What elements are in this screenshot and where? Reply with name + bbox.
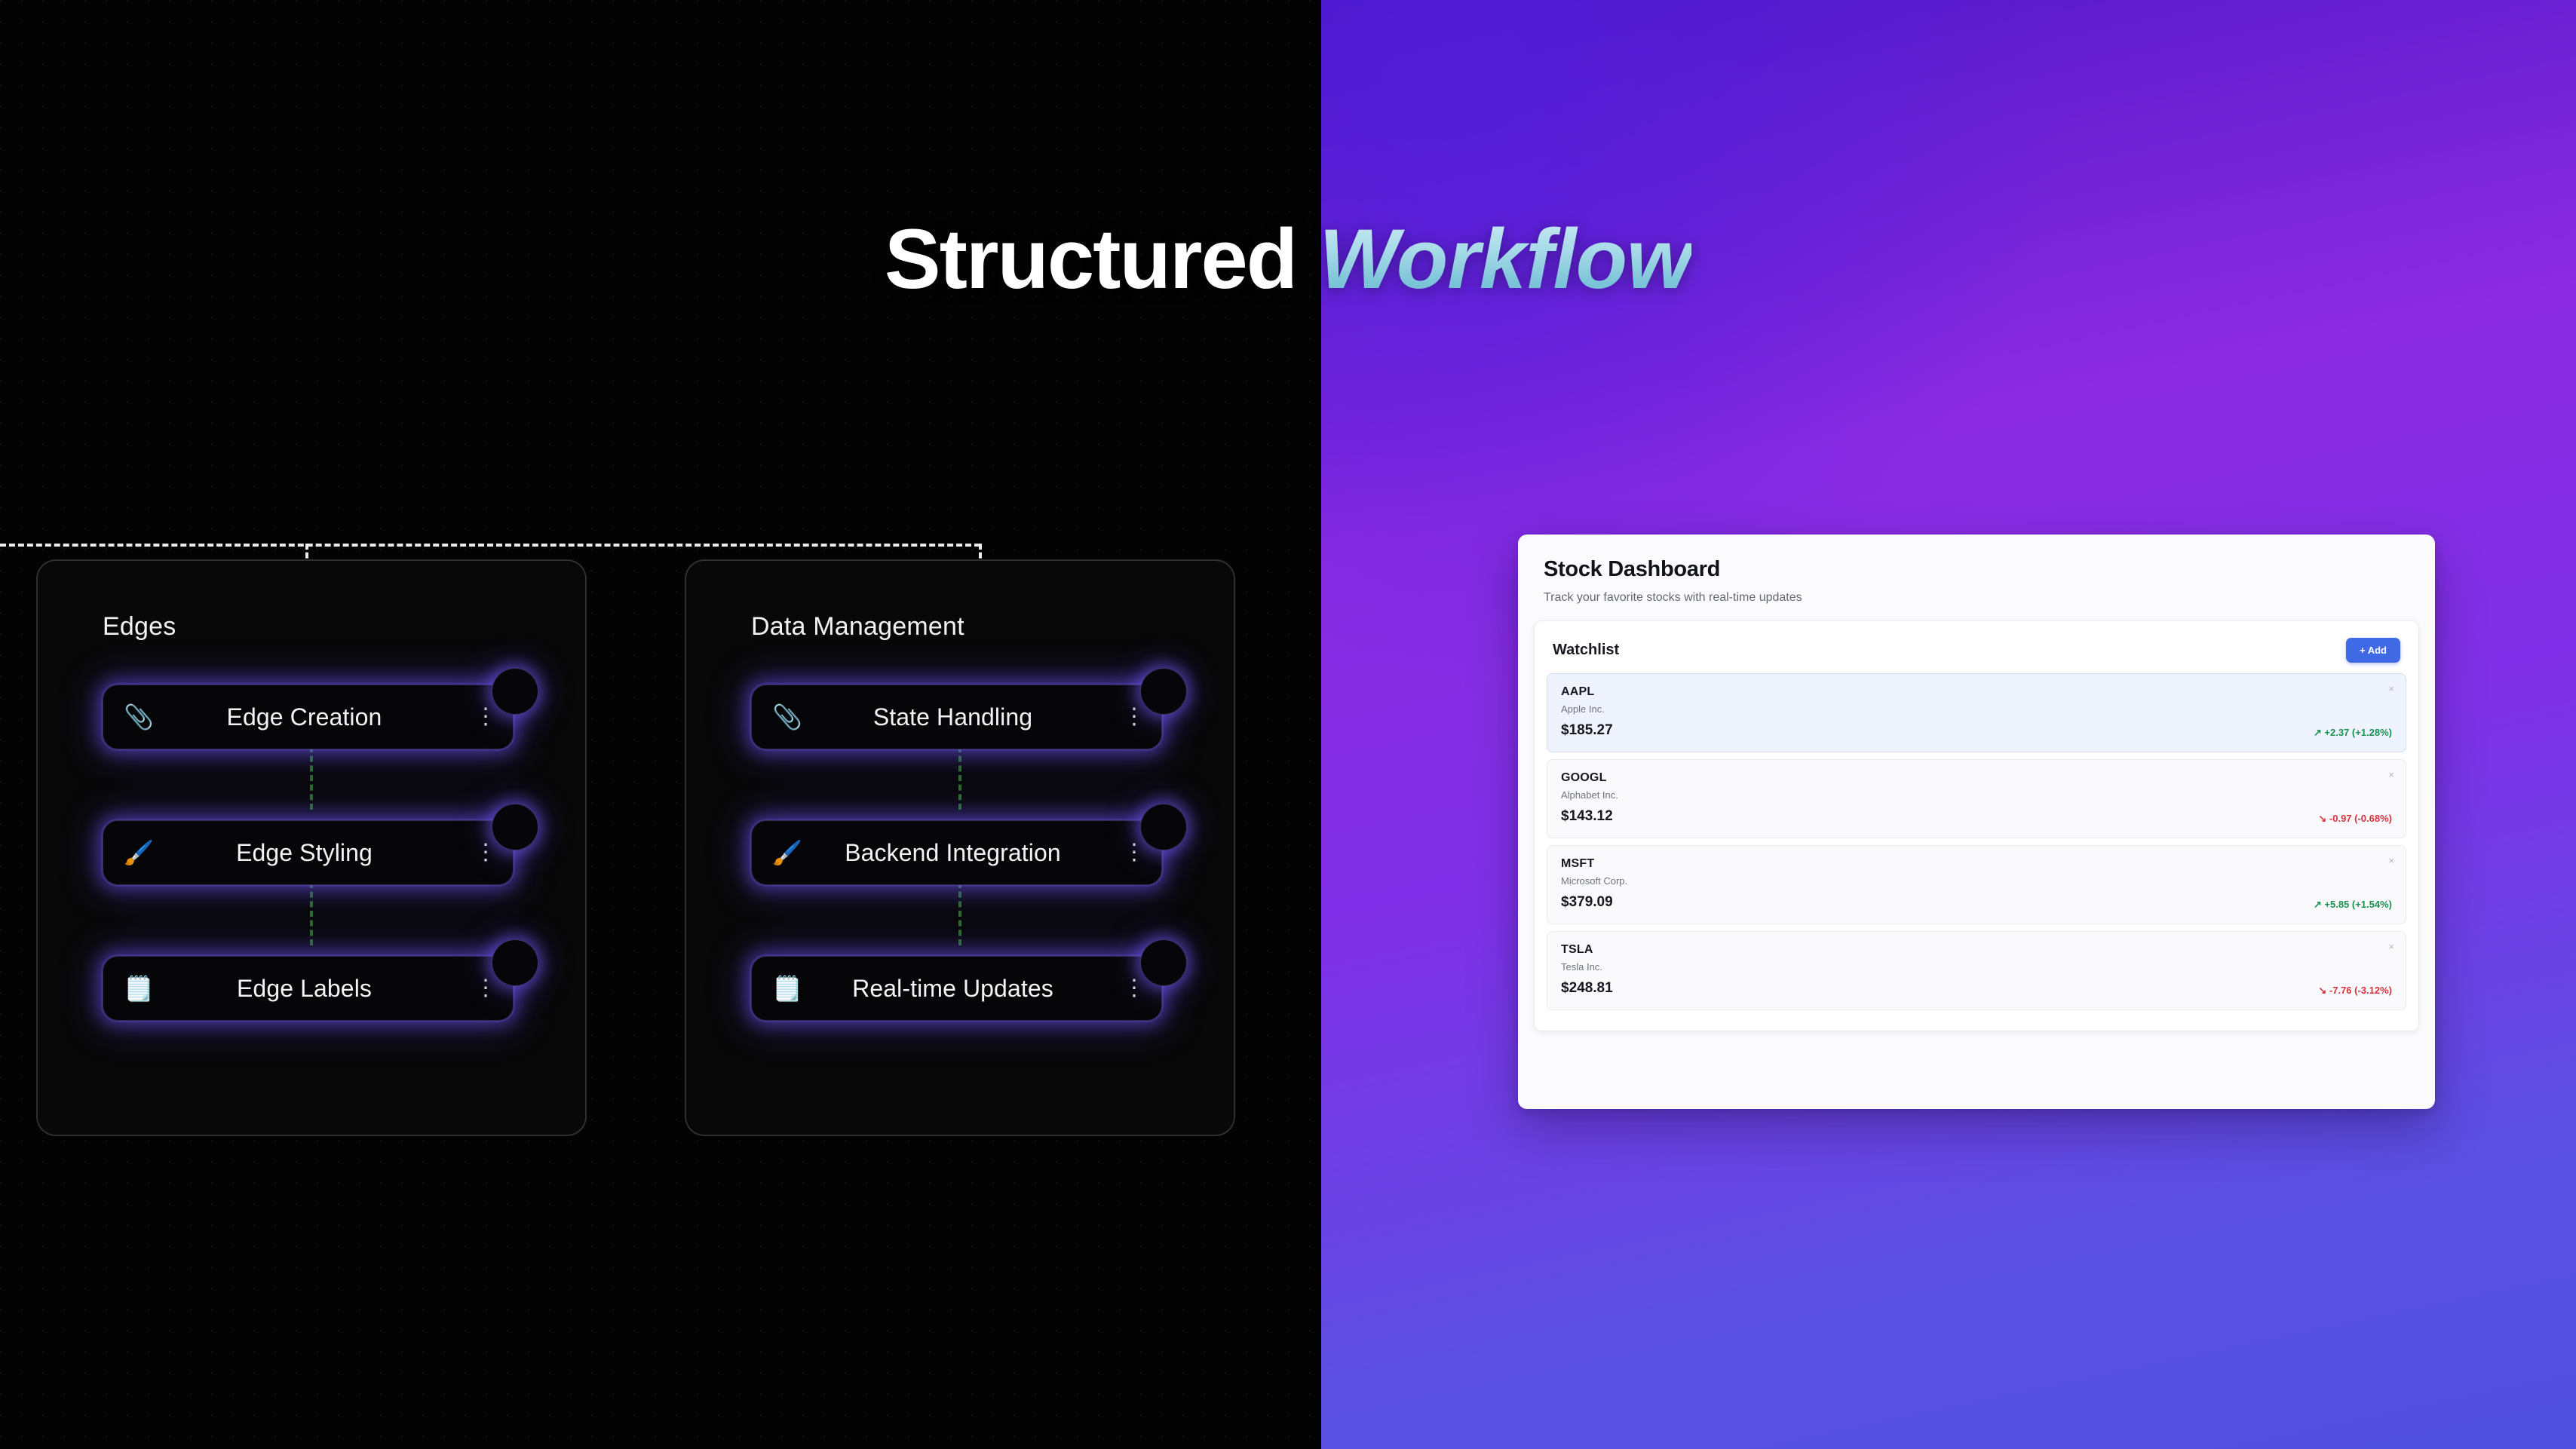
group-card-data-management[interactable]: Data Management 📎 State Handling ⋮ 🖌️ Ba… [685,559,1235,1136]
stock-row-msft[interactable]: × MSFT Microsoft Corp. $379.09 ↗ +5.85 (… [1547,845,2406,924]
paintbrush-icon: 🖌️ [121,841,156,865]
node-list-edges: 📎 Edge Creation ⋮ 🖌️ Edge Styling ⋮ 🗒️ E… [38,672,585,1080]
node-link-line [310,746,313,810]
stock-price: $143.12 [1561,808,1613,825]
node-handle[interactable] [492,939,538,986]
node-edge-styling[interactable]: 🖌️ Edge Styling ⋮ [103,820,514,885]
stock-row-bottom: $379.09 ↗ +5.85 (+1.54%) [1561,894,2392,911]
node-list-data-management: 📎 State Handling ⋮ 🖌️ Backend Integratio… [686,672,1234,1080]
group-title-edges: Edges [103,612,176,642]
node-state-handling[interactable]: 📎 State Handling ⋮ [751,685,1162,749]
kebab-menu-icon[interactable]: ⋮ [469,981,502,996]
stock-row-tsla[interactable]: × TSLA Tesla Inc. $248.81 ↘ -7.76 (-3.12… [1547,931,2406,1010]
watchlist-title: Watchlist [1553,642,1619,659]
node-link-line [958,746,961,810]
node-row[interactable]: 🖌️ Backend Integration ⋮ [686,808,1234,944]
kebab-menu-icon[interactable]: ⋮ [1118,981,1151,996]
node-row[interactable]: 📎 State Handling ⋮ [686,672,1234,808]
stock-company: Apple Inc. [1561,703,2392,715]
connector-line-horizontal [0,544,980,547]
node-realtime-updates[interactable]: 🗒️ Real-time Updates ⋮ [751,956,1162,1021]
stock-price: $185.27 [1561,722,1613,739]
node-label: Edge Styling [140,839,469,867]
stock-row-googl[interactable]: × GOOGL Alphabet Inc. $143.12 ↘ -0.97 (-… [1547,759,2406,838]
kebab-menu-icon[interactable]: ⋮ [469,709,502,724]
stock-change: ↘ -7.76 (-3.12%) [2318,985,2392,997]
stock-dashboard-card: Stock Dashboard Track your favorite stoc… [1518,535,2435,1109]
stock-row-bottom: $248.81 ↘ -7.76 (-3.12%) [1561,980,2392,997]
stock-symbol: AAPL [1561,685,2392,699]
stock-company: Alphabet Inc. [1561,789,2392,801]
stock-symbol: TSLA [1561,943,2392,957]
dashboard-subtitle: Track your favorite stocks with real-tim… [1544,591,2409,605]
remove-stock-icon[interactable]: × [2388,855,2394,866]
node-label: Edge Labels [140,975,469,1003]
dashboard-header: Stock Dashboard Track your favorite stoc… [1518,535,2435,621]
group-title-data-management: Data Management [751,612,964,642]
kebab-menu-icon[interactable]: ⋮ [1118,709,1151,724]
stock-symbol: MSFT [1561,857,2392,871]
node-handle[interactable] [1140,939,1187,986]
notepad-icon: 🗒️ [121,976,156,1000]
stock-row-aapl[interactable]: × AAPL Apple Inc. $185.27 ↗ +2.37 (+1.28… [1547,673,2406,752]
node-backend-integration[interactable]: 🖌️ Backend Integration ⋮ [751,820,1162,885]
stock-symbol: GOOGL [1561,771,2392,785]
node-handle[interactable] [1140,804,1187,850]
kebab-menu-icon[interactable]: ⋮ [1118,845,1151,860]
dashboard-title: Stock Dashboard [1544,557,2409,582]
paintbrush-icon: 🖌️ [770,841,805,865]
stock-row-bottom: $185.27 ↗ +2.37 (+1.28%) [1561,722,2392,739]
node-link-line [958,882,961,945]
stock-price: $379.09 [1561,894,1613,911]
paperclip-icon: 📎 [121,705,156,729]
node-link-line [310,882,313,945]
node-label: Edge Creation [140,703,469,731]
page-title: StructuredWorkflow [0,217,2576,302]
stock-price: $248.81 [1561,980,1613,997]
stock-company: Microsoft Corp. [1561,875,2392,887]
group-card-edges[interactable]: Edges 📎 Edge Creation ⋮ 🖌️ Edge Styling … [36,559,587,1136]
watchlist-panel: Watchlist + Add × AAPL Apple Inc. $185.2… [1535,621,2418,1031]
kebab-menu-icon[interactable]: ⋮ [469,845,502,860]
stock-change: ↗ +2.37 (+1.28%) [2314,727,2392,739]
remove-stock-icon[interactable]: × [2388,941,2394,952]
node-handle[interactable] [492,668,538,715]
stock-company: Tesla Inc. [1561,961,2392,973]
node-handle[interactable] [1140,668,1187,715]
stock-change: ↗ +5.85 (+1.54%) [2314,899,2392,911]
stock-change: ↘ -0.97 (-0.68%) [2318,813,2392,825]
remove-stock-icon[interactable]: × [2388,683,2394,694]
paperclip-icon: 📎 [770,705,805,729]
node-label: Real-time Updates [788,975,1118,1003]
node-row[interactable]: 🗒️ Real-time Updates ⋮ [686,944,1234,1080]
page-title-accent: Workflow [1319,212,1691,306]
node-edge-creation[interactable]: 📎 Edge Creation ⋮ [103,685,514,749]
node-row[interactable]: 🖌️ Edge Styling ⋮ [38,808,585,944]
node-handle[interactable] [492,804,538,850]
stock-row-bottom: $143.12 ↘ -0.97 (-0.68%) [1561,808,2392,825]
notepad-icon: 🗒️ [770,976,805,1000]
node-row[interactable]: 🗒️ Edge Labels ⋮ [38,944,585,1080]
add-stock-button[interactable]: + Add [2346,638,2400,663]
node-label: Backend Integration [788,839,1118,867]
watchlist-header: Watchlist + Add [1547,632,2406,673]
node-row[interactable]: 📎 Edge Creation ⋮ [38,672,585,808]
node-edge-labels[interactable]: 🗒️ Edge Labels ⋮ [103,956,514,1021]
page-title-primary: Structured [885,212,1296,306]
remove-stock-icon[interactable]: × [2388,769,2394,780]
node-label: State Handling [788,703,1118,731]
